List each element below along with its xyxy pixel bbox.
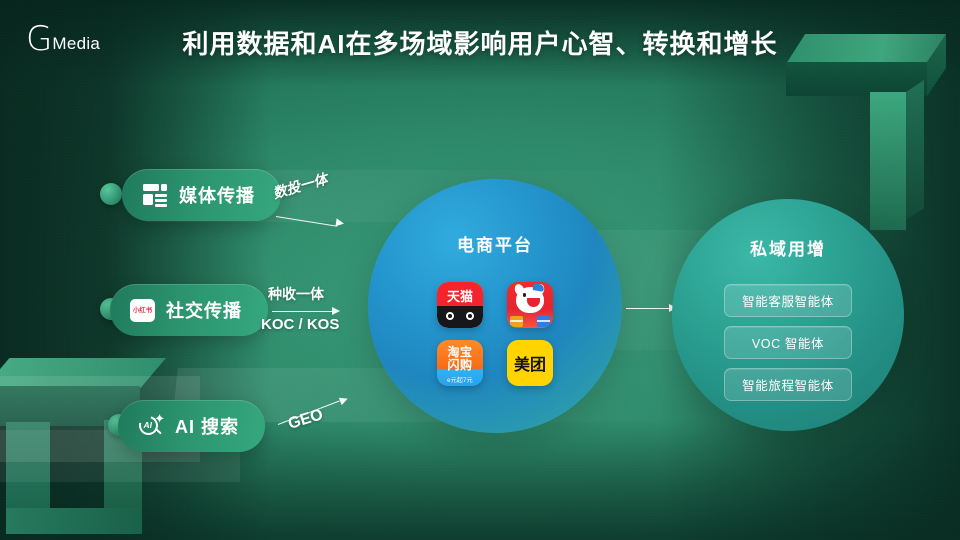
private-domain-circle: 私域用增 智能客服智能体 VOC 智能体 智能旅程智能体 — [672, 199, 904, 431]
agent-pill[interactable]: VOC 智能体 — [724, 326, 852, 359]
page-title: 利用数据和AI在多场域影响用户心智、转换和增长 — [0, 24, 960, 61]
tmall-label: 天猫 — [447, 286, 473, 305]
agent-pill[interactable]: 智能客服智能体 — [724, 284, 852, 317]
connector-arrow-head-social — [332, 307, 340, 315]
agent-pill-list: 智能客服智能体 VOC 智能体 智能旅程智能体 — [724, 284, 852, 401]
connector-label-social-bottom: KOC / KOS — [261, 316, 339, 333]
xiaohongshu-icon: 小红书 — [130, 299, 155, 322]
connector-arrow-head-media — [335, 218, 344, 227]
tmall-app-icon[interactable]: 天猫 — [437, 282, 483, 328]
connector-arrow-line-social — [272, 311, 334, 312]
layout-icon — [142, 182, 168, 208]
agent-pill[interactable]: 智能旅程智能体 — [724, 368, 852, 401]
channel-label-ai-search: AI 搜索 — [175, 413, 239, 439]
channel-label-media: 媒体传播 — [179, 182, 255, 208]
taobao-shangou-sub: e元起7元 — [437, 375, 483, 384]
taobao-shangou-line2: 闪购 — [437, 356, 483, 373]
ai-search-icon: AI✦ — [138, 413, 164, 439]
private-domain-title: 私域用增 — [750, 235, 826, 260]
channel-card-ai-search[interactable]: AI✦ AI 搜索 — [118, 400, 265, 452]
channel-card-social[interactable]: 小红书 社交传播 — [110, 284, 268, 336]
jd-app-icon[interactable] — [507, 282, 553, 328]
meituan-app-icon[interactable]: 美团 — [507, 340, 553, 386]
channel-card-media[interactable]: 媒体传播 — [122, 169, 281, 221]
channel-bullet-dot-1 — [100, 183, 122, 205]
ecommerce-app-grid: 天猫 淘宝 闪购 e元起7元 美团 — [437, 282, 553, 386]
taobao-shangou-app-icon[interactable]: 淘宝 闪购 e元起7元 — [437, 340, 483, 386]
flow-arrow-line — [626, 308, 672, 309]
channel-label-social: 社交传播 — [166, 297, 242, 323]
ecommerce-platform-circle: 电商平台 天猫 淘宝 闪购 e元起7元 — [368, 179, 622, 433]
slide-canvas: G Media 利用数据和AI在多场域影响用户心智、转换和增长 媒体传播 数投一… — [0, 0, 960, 540]
connector-label-social-top: 种收一体 — [268, 284, 324, 304]
meituan-label: 美团 — [514, 351, 546, 375]
ecommerce-title: 电商平台 — [457, 231, 533, 256]
